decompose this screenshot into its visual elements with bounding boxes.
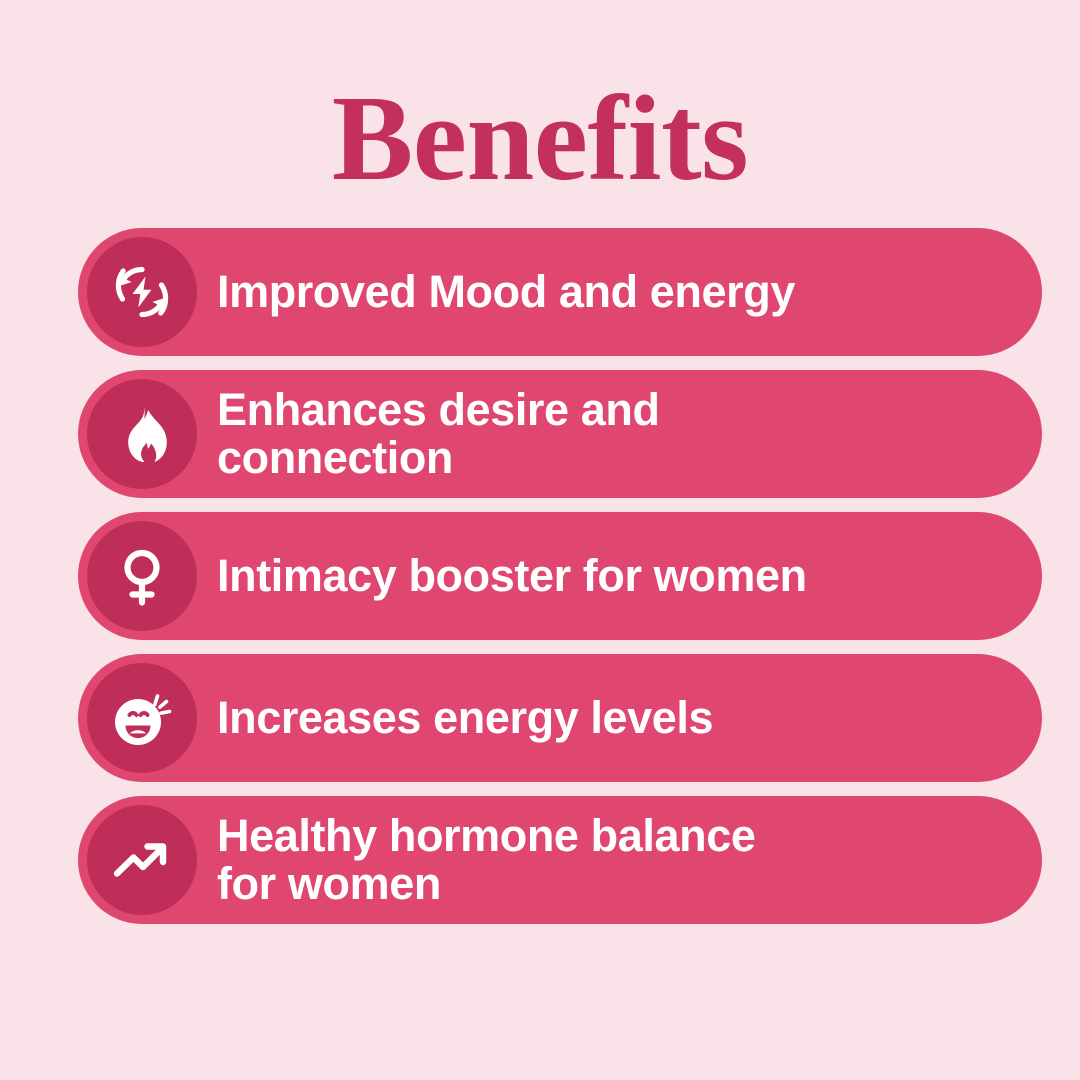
page-title-container: Benefits [0,78,1080,200]
benefit-item-improved-mood[interactable]: Improved Mood and energy [78,228,1042,356]
smiling-face-icon [87,663,197,773]
benefit-label: Increases energy levels [217,694,1014,742]
trending-up-arrow-icon [87,805,197,915]
benefits-list: Improved Mood and energy Enhances desire… [78,228,1042,924]
benefit-label: Improved Mood and energy [217,268,1014,316]
benefit-item-increases-energy[interactable]: Increases energy levels [78,654,1042,782]
benefit-label: Intimacy booster for women [217,552,1014,600]
benefit-label: Enhances desire and connection [217,386,1014,481]
benefit-item-enhances-desire[interactable]: Enhances desire and connection [78,370,1042,498]
page-title: Benefits [332,78,748,200]
female-venus-symbol-icon [87,521,197,631]
benefit-item-intimacy-booster[interactable]: Intimacy booster for women [78,512,1042,640]
energy-refresh-icon [87,237,197,347]
flame-icon [87,379,197,489]
benefits-poster: Benefits Improved Mood and energy [0,0,1080,1080]
benefit-item-hormone-balance[interactable]: Healthy hormone balance for women [78,796,1042,924]
benefit-label: Healthy hormone balance for women [217,812,1014,907]
